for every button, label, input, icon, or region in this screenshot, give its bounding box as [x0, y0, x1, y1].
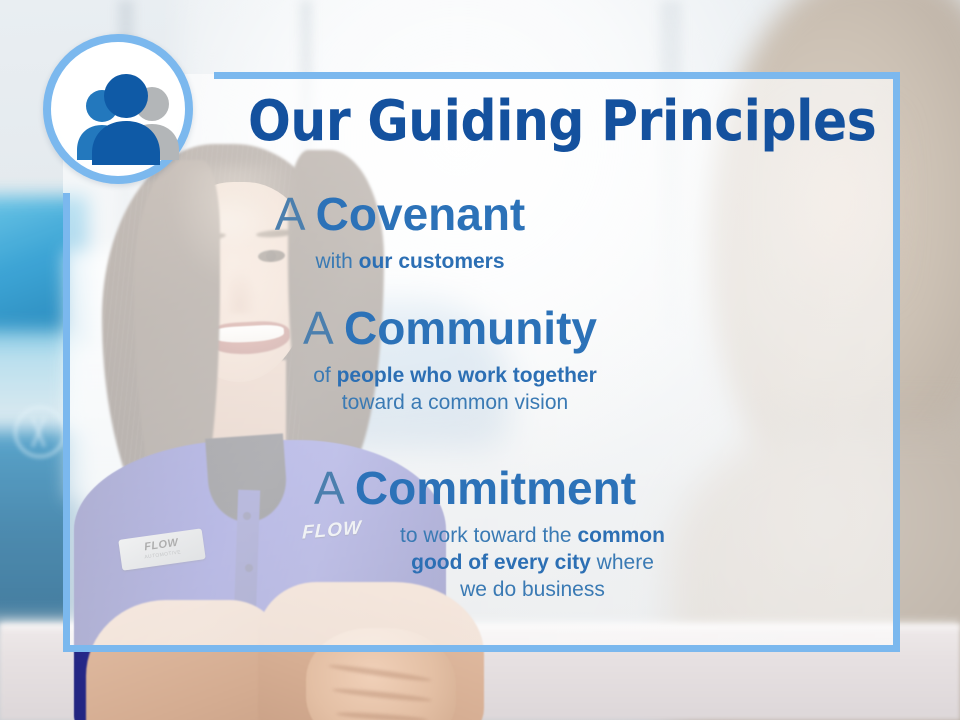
principle-community-heading: A Community: [0, 302, 960, 354]
principle-covenant: A Covenant with our customers: [0, 188, 960, 275]
principle-community-sub-line-1: of people who work together: [0, 362, 910, 389]
principle-commitment-sub-line-2: good of every city where: [105, 549, 960, 576]
principle-commitment-sub-bold-2: good of every city: [411, 551, 591, 574]
page-title: Our Guiding Principles: [248, 92, 860, 152]
principle-community-article: A: [303, 302, 331, 354]
principle-covenant-article: A: [275, 188, 303, 240]
principle-commitment-sub-bold-1: common: [577, 524, 665, 547]
poster-canvas: FLOW FLOW AUTOMOTIVE: [0, 0, 960, 720]
principle-commitment-sub-prefix: to work toward the: [400, 524, 577, 547]
principle-commitment-article: A: [314, 462, 342, 514]
text-content: Our Guiding Principles A Covenant with o…: [0, 0, 960, 720]
principle-covenant-word: Covenant: [316, 188, 526, 240]
principle-community: A Community of people who work together …: [0, 302, 960, 416]
principle-commitment-sub-line-1: to work toward the common: [105, 522, 960, 549]
principle-covenant-sub-prefix: with: [315, 250, 358, 273]
principle-community-sub-prefix: of: [313, 364, 336, 387]
principle-covenant-sub-bold: our customers: [359, 250, 505, 273]
principle-commitment-subtitle: to work toward the common good of every …: [0, 522, 960, 603]
principle-covenant-heading: A Covenant: [0, 188, 960, 240]
principle-commitment-sub-suffix: where: [591, 551, 654, 574]
principle-covenant-subtitle: with our customers: [0, 248, 960, 275]
principle-commitment-word: Commitment: [355, 462, 636, 514]
principle-community-sub-bold: people who work together: [337, 364, 597, 387]
principle-commitment: A Commitment to work toward the common g…: [0, 462, 960, 603]
principle-commitment-heading: A Commitment: [0, 462, 960, 514]
principle-commitment-sub-line-3: we do business: [105, 576, 960, 603]
principle-community-sub-line-2: toward a common vision: [0, 389, 910, 416]
principle-community-subtitle: of people who work together toward a com…: [0, 362, 960, 416]
principle-community-word: Community: [344, 302, 597, 354]
